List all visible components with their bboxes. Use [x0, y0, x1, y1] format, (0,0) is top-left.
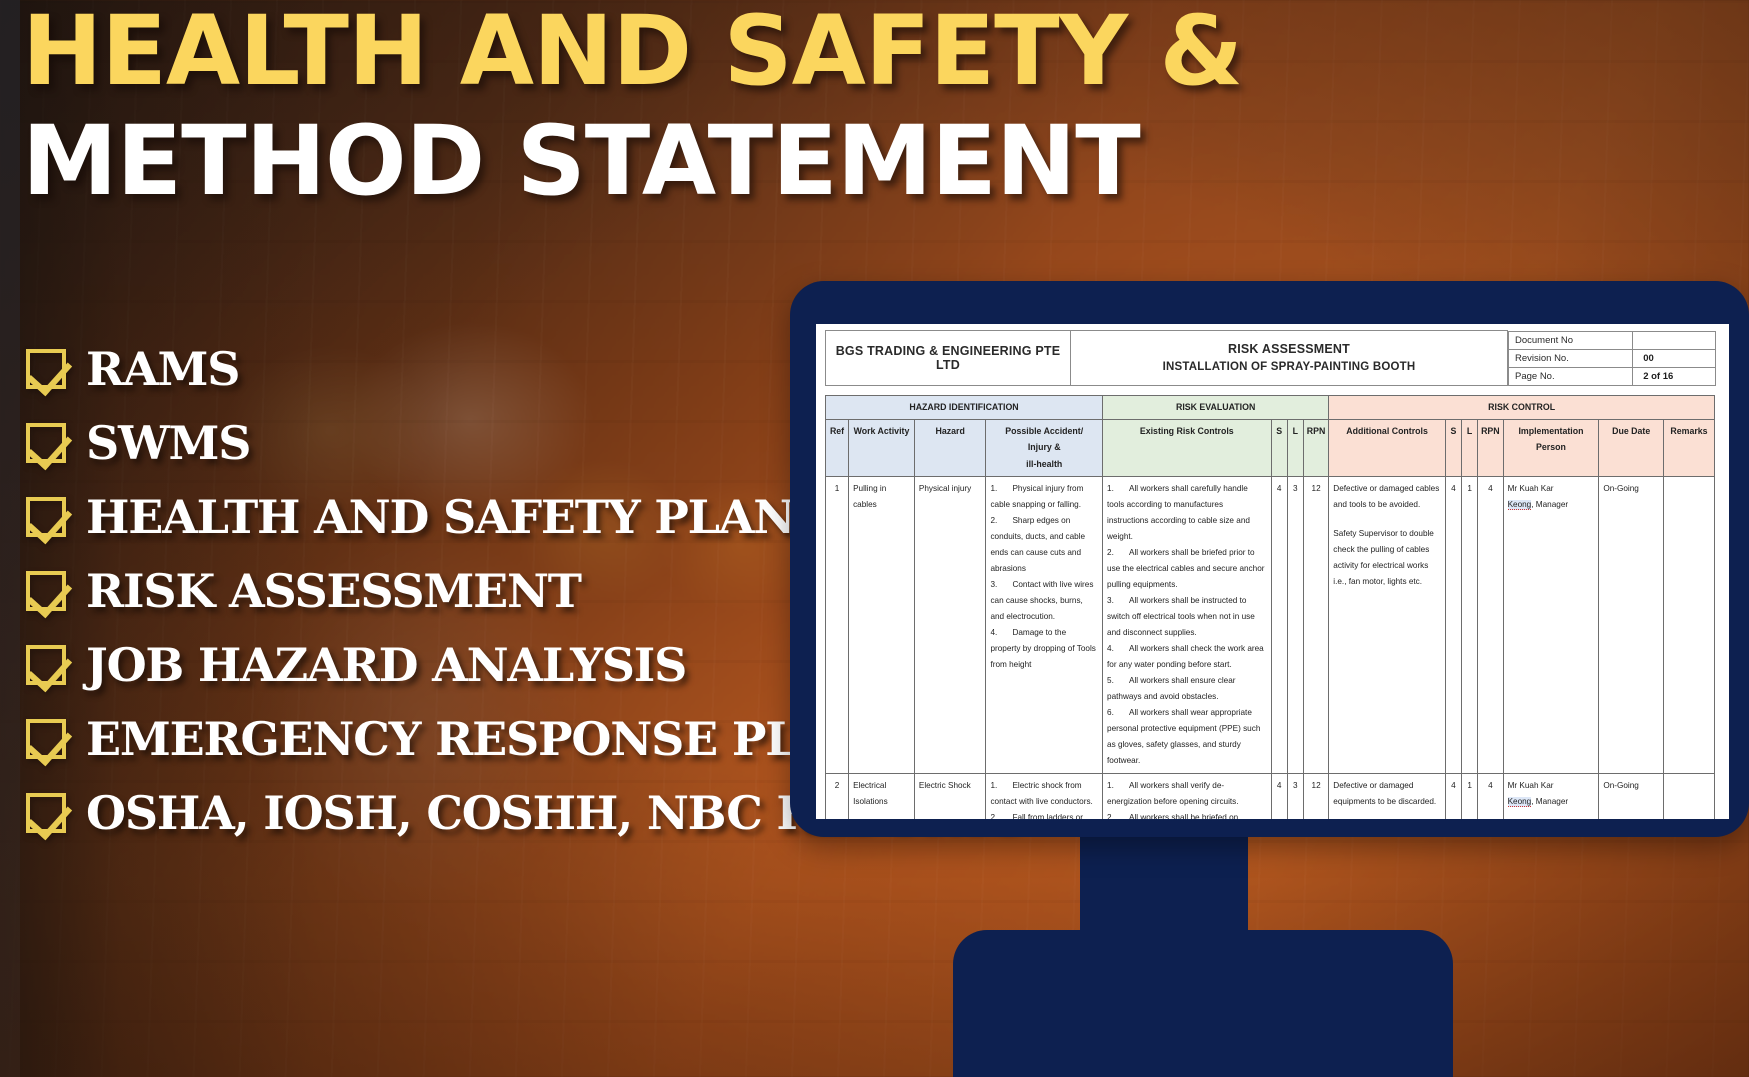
document-title: RISK ASSESSMENT [1077, 340, 1501, 359]
list-item: 2.Fall from ladders or elevated work pla… [990, 810, 1098, 820]
cell-hazard: Electric Shock [914, 773, 986, 819]
list-item: 3.All workers shall be instructed to swi… [1107, 593, 1267, 641]
column-header-likelihood-1: L [1287, 419, 1303, 476]
list-item: 3.Contact with live wires can cause shoc… [990, 577, 1098, 625]
risk-assessment-table: HAZARD IDENTIFICATION RISK EVALUATION RI… [825, 395, 1715, 819]
cell-likelihood-1: 3 [1287, 773, 1303, 819]
headline-line-2: METHOD STATEMENT [22, 116, 1352, 206]
possible-accident-line-2: Injury & [988, 439, 1100, 456]
checkbox-checked-icon [26, 423, 66, 463]
table-group-header-row: HAZARD IDENTIFICATION RISK EVALUATION RI… [826, 396, 1715, 420]
cell-additional-controls: Defective or damaged cables and tools to… [1329, 476, 1446, 773]
list-number: 2. [1107, 545, 1129, 561]
monitor-stand [1080, 832, 1248, 952]
cell-work-activity: Pulling in cables [849, 476, 915, 773]
column-header-ref: Ref [826, 419, 849, 476]
list-number: 6. [1107, 705, 1129, 721]
document-title-cell: RISK ASSESSMENT INSTALLATION OF SPRAY-PA… [1071, 331, 1508, 386]
cell-hazard: Physical injury [914, 476, 986, 773]
list-item: 2.All workers shall be briefed on approp… [1107, 810, 1267, 820]
list-text: All workers shall be briefed prior to us… [1107, 548, 1264, 589]
checklist-label: EMERGENCY RESPONSE PLAN [86, 716, 872, 762]
table-column-header-row: Ref Work Activity Hazard Possible Accide… [826, 419, 1715, 476]
column-header-work-activity: Work Activity [849, 419, 915, 476]
column-header-severity-1: S [1271, 419, 1287, 476]
cell-likelihood-2: 1 [1462, 773, 1478, 819]
list-item: 2.Sharp edges on conduits, ducts, and ca… [990, 513, 1098, 577]
list-item: 6.All workers shall wear appropriate per… [1107, 705, 1267, 769]
cell-likelihood-2: 1 [1462, 476, 1478, 773]
cell-remarks [1664, 773, 1715, 819]
group-header-risk-evaluation: RISK EVALUATION [1103, 396, 1329, 420]
table-row: 2 Electrical Isolations Electric Shock 1… [826, 773, 1715, 819]
list-number: 1. [1107, 778, 1129, 794]
cell-implementation-person: Mr Kuah Kar Keong, Manager [1503, 476, 1599, 773]
column-header-additional-controls: Additional Controls [1329, 419, 1446, 476]
list-number: 1. [990, 481, 1012, 497]
checkbox-checked-icon [26, 645, 66, 685]
checkbox-checked-icon [26, 497, 66, 537]
spacer [1333, 513, 1441, 526]
checklist-label: RISK ASSESSMENT [86, 568, 581, 614]
checkbox-checked-icon [26, 719, 66, 759]
cell-likelihood-1: 3 [1287, 476, 1303, 773]
implementation-person-line-1: Implementation [1506, 423, 1597, 440]
cell-possible-accident: 1.Physical injury from cable snapping or… [986, 476, 1103, 773]
column-header-implementation-person: Implementation Person [1503, 419, 1599, 476]
cell-rpn-1: 12 [1303, 476, 1328, 773]
column-header-rpn-1: RPN [1303, 419, 1328, 476]
table-row: Document No [1509, 331, 1716, 349]
paragraph: Safety Supervisor to double check the pu… [1333, 526, 1441, 590]
paragraph: Defective or damaged equipments to be di… [1333, 778, 1441, 810]
document-header-table: BGS TRADING & ENGINEERING PTE LTD RISK A… [825, 330, 1716, 386]
checklist-label: RAMS [86, 346, 239, 392]
cell-severity-2: 4 [1445, 476, 1461, 773]
column-header-existing-risk-controls: Existing Risk Controls [1103, 419, 1272, 476]
column-header-remarks: Remarks [1664, 419, 1715, 476]
list-text: All workers shall wear appropriate perso… [1107, 708, 1260, 765]
cell-severity-2: 4 [1445, 773, 1461, 819]
meta-value [1633, 331, 1715, 349]
document-subtitle: INSTALLATION OF SPRAY-PAINTING BOOTH [1077, 359, 1501, 376]
spacer [1333, 810, 1441, 820]
list-item: 2.All workers shall be briefed prior to … [1107, 545, 1267, 593]
document-meta-table: Document No Revision No. 00 Page No. 2 o [1508, 331, 1716, 386]
table-row: Page No. 2 of 16 [1509, 367, 1716, 385]
list-text: All workers shall check the work area fo… [1107, 644, 1264, 669]
cell-due-date: On-Going [1599, 773, 1664, 819]
meta-label: Revision No. [1509, 349, 1633, 367]
cell-possible-accident: 1.Electric shock from contact with live … [986, 773, 1103, 819]
list-item: 4.All workers shall check the work area … [1107, 641, 1267, 673]
cell-rpn-1: 12 [1303, 773, 1328, 819]
risk-assessment-document: BGS TRADING & ENGINEERING PTE LTD RISK A… [816, 324, 1729, 819]
list-item: 1.Electric shock from contact with live … [990, 778, 1098, 810]
possible-accident-line-1: Possible Accident/ [988, 423, 1100, 440]
person-title: , Manager [1531, 797, 1568, 806]
checklist-label: JOB HAZARD ANALYSIS [86, 642, 686, 688]
headline-line-1: HEALTH AND SAFETY & [22, 6, 1352, 96]
cell-rpn-2: 4 [1478, 476, 1503, 773]
cell-ref: 2 [826, 773, 849, 819]
column-header-hazard: Hazard [914, 419, 986, 476]
list-number: 2. [990, 513, 1012, 529]
list-text: All workers shall be instructed to switc… [1107, 596, 1255, 637]
monitor-frame: BGS TRADING & ENGINEERING PTE LTD RISK A… [790, 281, 1749, 837]
meta-value: 2 of 16 [1633, 367, 1715, 385]
person-name-line-2: Keong, Manager [1508, 497, 1595, 513]
list-number: 1. [990, 778, 1012, 794]
left-edge-shade [0, 0, 20, 1077]
column-header-possible-accident: Possible Accident/ Injury & ill-health [986, 419, 1103, 476]
person-name-line-1: Mr Kuah Kar [1508, 781, 1554, 790]
list-text: All workers shall carefully handle tools… [1107, 484, 1250, 541]
person-title: , Manager [1531, 500, 1568, 509]
list-number: 3. [1107, 593, 1129, 609]
misspelled-word: Keong [1508, 500, 1532, 510]
list-item: 1.All workers shall carefully handle too… [1107, 481, 1267, 545]
list-item: 5.All workers shall ensure clear pathway… [1107, 673, 1267, 705]
implementation-person-line-2: Person [1506, 439, 1597, 456]
document-meta-cell: Document No Revision No. 00 Page No. 2 o [1508, 331, 1716, 386]
checklist-label: SWMS [86, 420, 250, 466]
meta-label: Page No. [1509, 367, 1633, 385]
list-number: 2. [1107, 810, 1129, 820]
cell-additional-controls: Defective or damaged equipments to be di… [1329, 773, 1446, 819]
checklist-label: HEALTH AND SAFETY PLAN [86, 494, 794, 540]
list-number: 3. [990, 577, 1012, 593]
column-header-severity-2: S [1445, 419, 1461, 476]
company-name: BGS TRADING & ENGINEERING PTE LTD [826, 331, 1071, 386]
list-item: 1.Physical injury from cable snapping or… [990, 481, 1098, 513]
column-header-rpn-2: RPN [1478, 419, 1503, 476]
person-name-line-1: Mr Kuah Kar [1508, 484, 1554, 493]
checkbox-checked-icon [26, 349, 66, 389]
meta-value: 00 [1633, 349, 1715, 367]
table-row: Revision No. 00 [1509, 349, 1716, 367]
column-header-likelihood-2: L [1462, 419, 1478, 476]
possible-accident-line-3: ill-health [988, 456, 1100, 473]
monitor-base [953, 930, 1453, 1077]
meta-label: Document No [1509, 331, 1633, 349]
table-row: 1 Pulling in cables Physical injury 1.Ph… [826, 476, 1715, 773]
document-screen: BGS TRADING & ENGINEERING PTE LTD RISK A… [816, 324, 1729, 819]
poster-headline: HEALTH AND SAFETY & METHOD STATEMENT [22, 6, 1352, 206]
paragraph: Defective or damaged cables and tools to… [1333, 481, 1441, 513]
cell-due-date: On-Going [1599, 476, 1664, 773]
checkbox-checked-icon [26, 793, 66, 833]
list-number: 5. [1107, 673, 1129, 689]
cell-existing-risk-controls: 1.All workers shall carefully handle too… [1103, 476, 1272, 773]
list-number: 4. [1107, 641, 1129, 657]
column-header-due-date: Due Date [1599, 419, 1664, 476]
cell-remarks [1664, 476, 1715, 773]
list-item: 1.All workers shall verify de-energizati… [1107, 778, 1267, 810]
list-number: 4. [990, 625, 1012, 641]
cell-ref: 1 [826, 476, 849, 773]
list-text: All workers shall be briefed on appropri… [1107, 813, 1254, 820]
poster-canvas: HEALTH AND SAFETY & METHOD STATEMENT RAM… [0, 0, 1749, 1077]
misspelled-word: Keong [1508, 797, 1532, 807]
checkbox-checked-icon [26, 571, 66, 611]
cell-implementation-person: Mr Kuah Kar Keong, Manager [1503, 773, 1599, 819]
cell-rpn-2: 4 [1478, 773, 1503, 819]
group-header-hazard-identification: HAZARD IDENTIFICATION [826, 396, 1103, 420]
person-name-line-2: Keong, Manager [1508, 794, 1595, 810]
cell-severity-1: 4 [1271, 773, 1287, 819]
list-number: 1. [1107, 481, 1129, 497]
cell-severity-1: 4 [1271, 476, 1287, 773]
list-item: 4.Damage to the property by dropping of … [990, 625, 1098, 673]
cell-existing-risk-controls: 1.All workers shall verify de-energizati… [1103, 773, 1272, 819]
group-header-risk-control: RISK CONTROL [1329, 396, 1715, 420]
list-number: 2. [990, 810, 1012, 820]
cell-work-activity: Electrical Isolations [849, 773, 915, 819]
